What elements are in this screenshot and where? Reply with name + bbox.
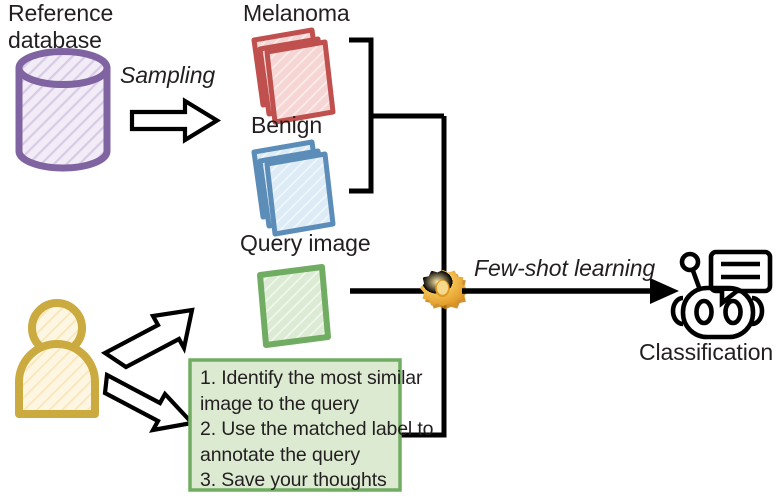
instruction-box-text: 1. Identify the most similar image to th…	[200, 366, 396, 494]
classification-label: Classification	[639, 339, 773, 366]
benign-label: Benign	[251, 112, 322, 139]
query-image-card-icon	[260, 267, 328, 345]
user-to-query-block-arrow-icon	[105, 310, 192, 367]
class-bracket-connector	[349, 40, 444, 191]
melanoma-image-stack-icon	[254, 30, 333, 122]
user-person-icon	[19, 303, 95, 414]
gear-icon	[420, 270, 469, 309]
diagram-canvas: Reference database Sampling Melanoma Ben…	[0, 0, 784, 499]
benign-image-stack-icon	[254, 142, 333, 234]
user-to-instructions-block-arrow-icon	[105, 375, 192, 430]
database-cylinder-icon	[19, 52, 107, 169]
melanoma-label: Melanoma	[243, 0, 350, 27]
robot-classifier-icon	[673, 252, 770, 337]
few-shot-learning-label: Few-shot learning	[474, 255, 655, 282]
query-image-label: Query image	[240, 230, 371, 257]
sampling-block-arrow-icon	[132, 101, 217, 140]
sampling-label: Sampling	[120, 62, 215, 89]
reference-database-label: Reference database	[8, 0, 113, 54]
